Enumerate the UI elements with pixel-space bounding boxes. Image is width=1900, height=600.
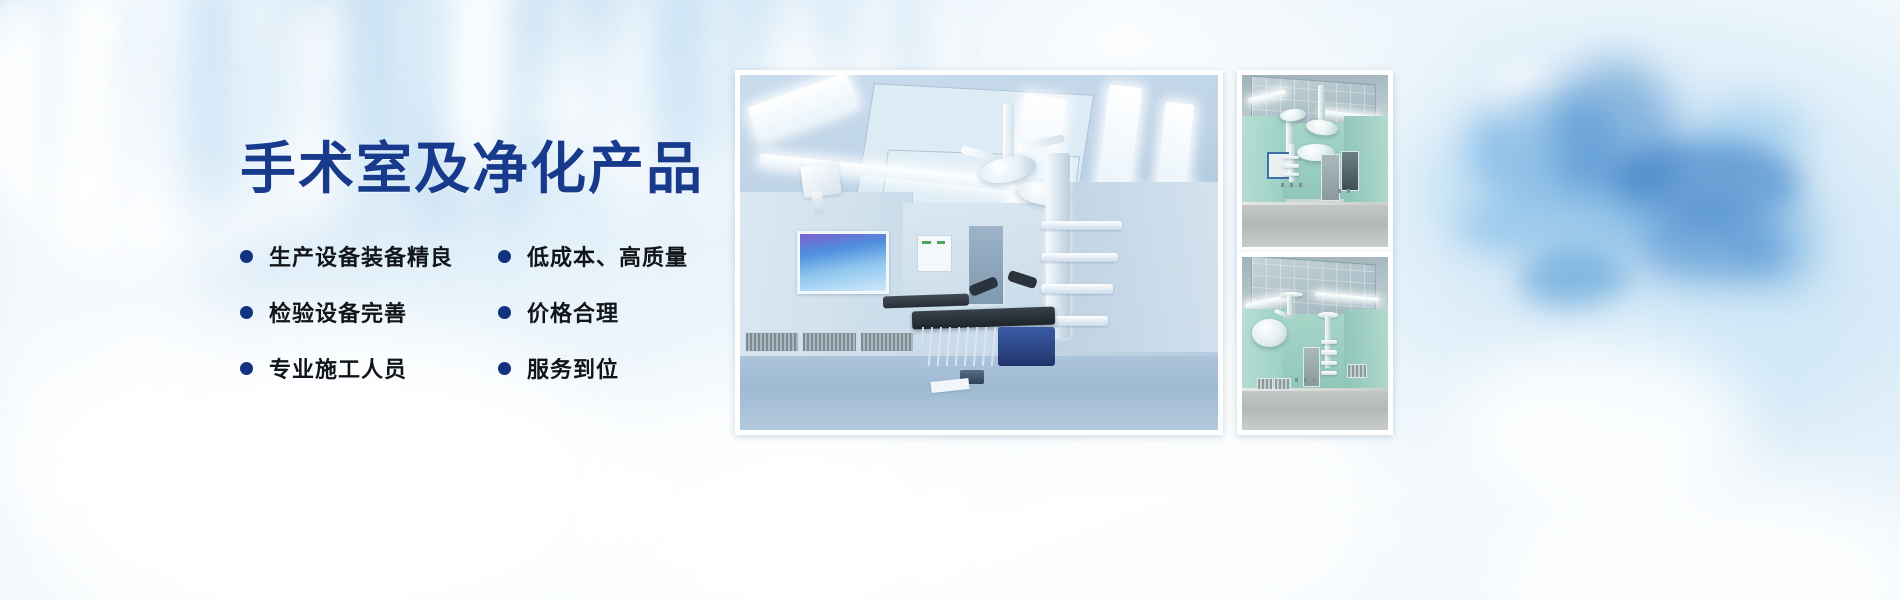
bullet-dot-icon bbox=[240, 250, 253, 263]
operating-room-main-photo bbox=[735, 70, 1223, 435]
operating-room-thumb-2 bbox=[1237, 252, 1393, 435]
feature-item: 检验设备完善 bbox=[240, 296, 498, 328]
banner-text-column: 手术室及净化产品 生产设备装备精良 低成本、高质量 检验设备完善 价格合理 专业… bbox=[240, 142, 710, 384]
cloud-wisp bbox=[860, 430, 1380, 600]
feature-label: 生产设备装备精良 bbox=[269, 240, 453, 272]
bullet-dot-icon bbox=[498, 362, 511, 375]
feature-item: 低成本、高质量 bbox=[498, 240, 710, 272]
bullet-dot-icon bbox=[498, 250, 511, 263]
abstract-blue-graphic bbox=[1430, 60, 1900, 520]
feature-item: 价格合理 bbox=[498, 296, 710, 328]
cloud-wisp bbox=[1480, 480, 1900, 600]
feature-item: 生产设备装备精良 bbox=[240, 240, 498, 272]
bullet-dot-icon bbox=[498, 306, 511, 319]
feature-item: 专业施工人员 bbox=[240, 352, 498, 384]
feature-label: 服务到位 bbox=[527, 352, 619, 384]
hero-banner: 手术室及净化产品 生产设备装备精良 低成本、高质量 检验设备完善 价格合理 专业… bbox=[0, 0, 1900, 600]
feature-label: 检验设备完善 bbox=[269, 296, 407, 328]
feature-item: 服务到位 bbox=[498, 352, 710, 384]
cloud-wisp bbox=[0, 150, 210, 530]
feature-label: 专业施工人员 bbox=[269, 352, 407, 384]
operating-room-thumb-1 bbox=[1237, 70, 1393, 252]
feature-label: 低成本、高质量 bbox=[527, 240, 688, 272]
banner-headline: 手术室及净化产品 bbox=[240, 142, 710, 198]
feature-list: 生产设备装备精良 低成本、高质量 检验设备完善 价格合理 专业施工人员 服务到位 bbox=[240, 240, 710, 384]
bullet-dot-icon bbox=[240, 362, 253, 375]
bullet-dot-icon bbox=[240, 306, 253, 319]
feature-label: 价格合理 bbox=[527, 296, 619, 328]
